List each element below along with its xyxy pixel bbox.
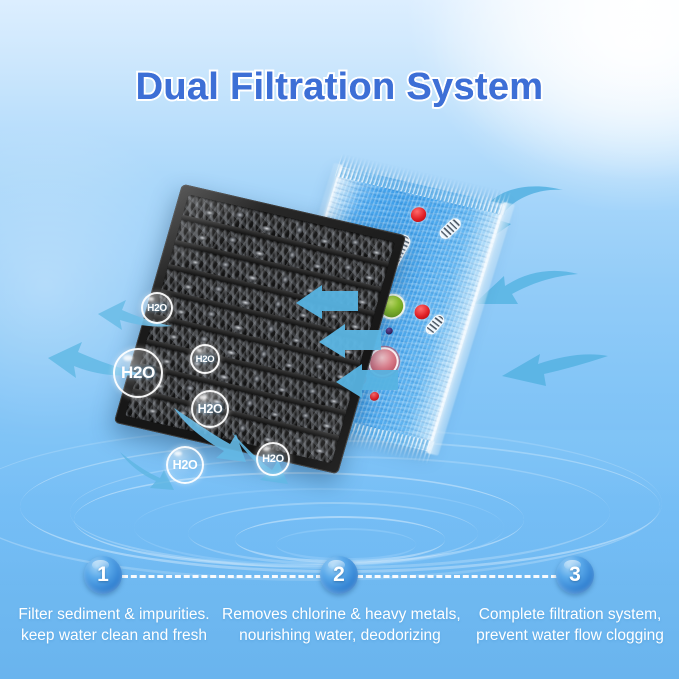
step-caption-1: Filter sediment & impurities. keep water…	[0, 604, 234, 646]
transfer-arrow-2	[315, 322, 383, 364]
step-caption-2: Removes chlorine & heavy metals, nourish…	[222, 604, 458, 646]
step-caption-3: Complete filtration system, prevent wate…	[454, 604, 679, 646]
step-caption-2-line2: nourishing water, deodorizing	[222, 625, 458, 646]
h2o-bubble-icon-6: H2O	[256, 442, 290, 476]
h2o-bubble-icon: H2O	[141, 292, 173, 324]
h2o-bubble-icon-5: H2O	[166, 446, 204, 484]
step-caption-3-line2: prevent water flow clogging	[454, 625, 679, 646]
infographic-stage: Dual Filtration System Dual Filtration S…	[0, 0, 679, 679]
h2o-bubble-icon-2: H2O	[113, 348, 163, 398]
step-number-3: 3	[556, 556, 594, 594]
step-connector-1	[122, 575, 322, 578]
step-caption-3-line1: Complete filtration system,	[454, 604, 679, 625]
steps-row: 1 2 3 Filter sediment & impurities. keep…	[0, 556, 679, 676]
step-number-1: 1	[84, 556, 122, 594]
step-number-2: 2	[320, 556, 358, 594]
step-connector-2	[357, 575, 557, 578]
h2o-bubble-icon-4: H2O	[191, 390, 229, 428]
h2o-bubble-icon-3: H2O	[190, 344, 220, 374]
water-inflow-arrow-3	[490, 352, 610, 406]
step-caption-1-line2: keep water clean and fresh	[0, 625, 234, 646]
step-caption-1-line1: Filter sediment & impurities.	[0, 604, 234, 625]
transfer-arrow-1	[292, 283, 360, 325]
step-caption-2-line1: Removes chlorine & heavy metals,	[222, 604, 458, 625]
transfer-arrow-3	[332, 362, 400, 404]
